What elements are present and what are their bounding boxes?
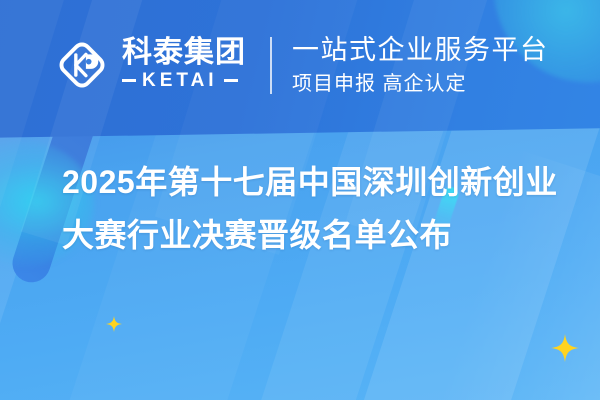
title-line-2: 大赛行业决赛晋级名单公布: [62, 209, 582, 262]
banner-header: 科泰集团 KETAI 一站式企业服务平台 项目申报 高企认定: [0, 0, 600, 135]
logo-english-row: KETAI: [122, 71, 246, 90]
banner-title: 2025年第十七届中国深圳创新创业 大赛行业决赛晋级名单公布: [62, 156, 582, 262]
header-tagline: 一站式企业服务平台: [292, 35, 549, 67]
ketai-diamond-kd-monogram-icon: [54, 37, 110, 93]
header-vertical-divider: [270, 37, 272, 94]
sparkle-large-right-icon: [551, 334, 579, 362]
sparkle-small-left-icon: [106, 316, 122, 332]
brand-logo[interactable]: 科泰集团 KETAI: [54, 37, 246, 93]
logo-wordmark: 科泰集团 KETAI: [122, 37, 246, 90]
header-subtagline: 项目申报 高企认定: [292, 72, 549, 96]
logo-chinese-name: 科泰集团: [122, 37, 246, 69]
logo-english-name: KETAI: [136, 71, 224, 90]
promo-banner: 科泰集团 KETAI 一站式企业服务平台 项目申报 高企认定 2025年第十七届…: [0, 0, 600, 400]
header-tagline-group: 一站式企业服务平台 项目申报 高企认定: [292, 35, 549, 96]
title-line-1: 2025年第十七届中国深圳创新创业: [62, 156, 582, 209]
logo-dash-right: [224, 79, 238, 82]
logo-dash-left: [122, 79, 136, 82]
